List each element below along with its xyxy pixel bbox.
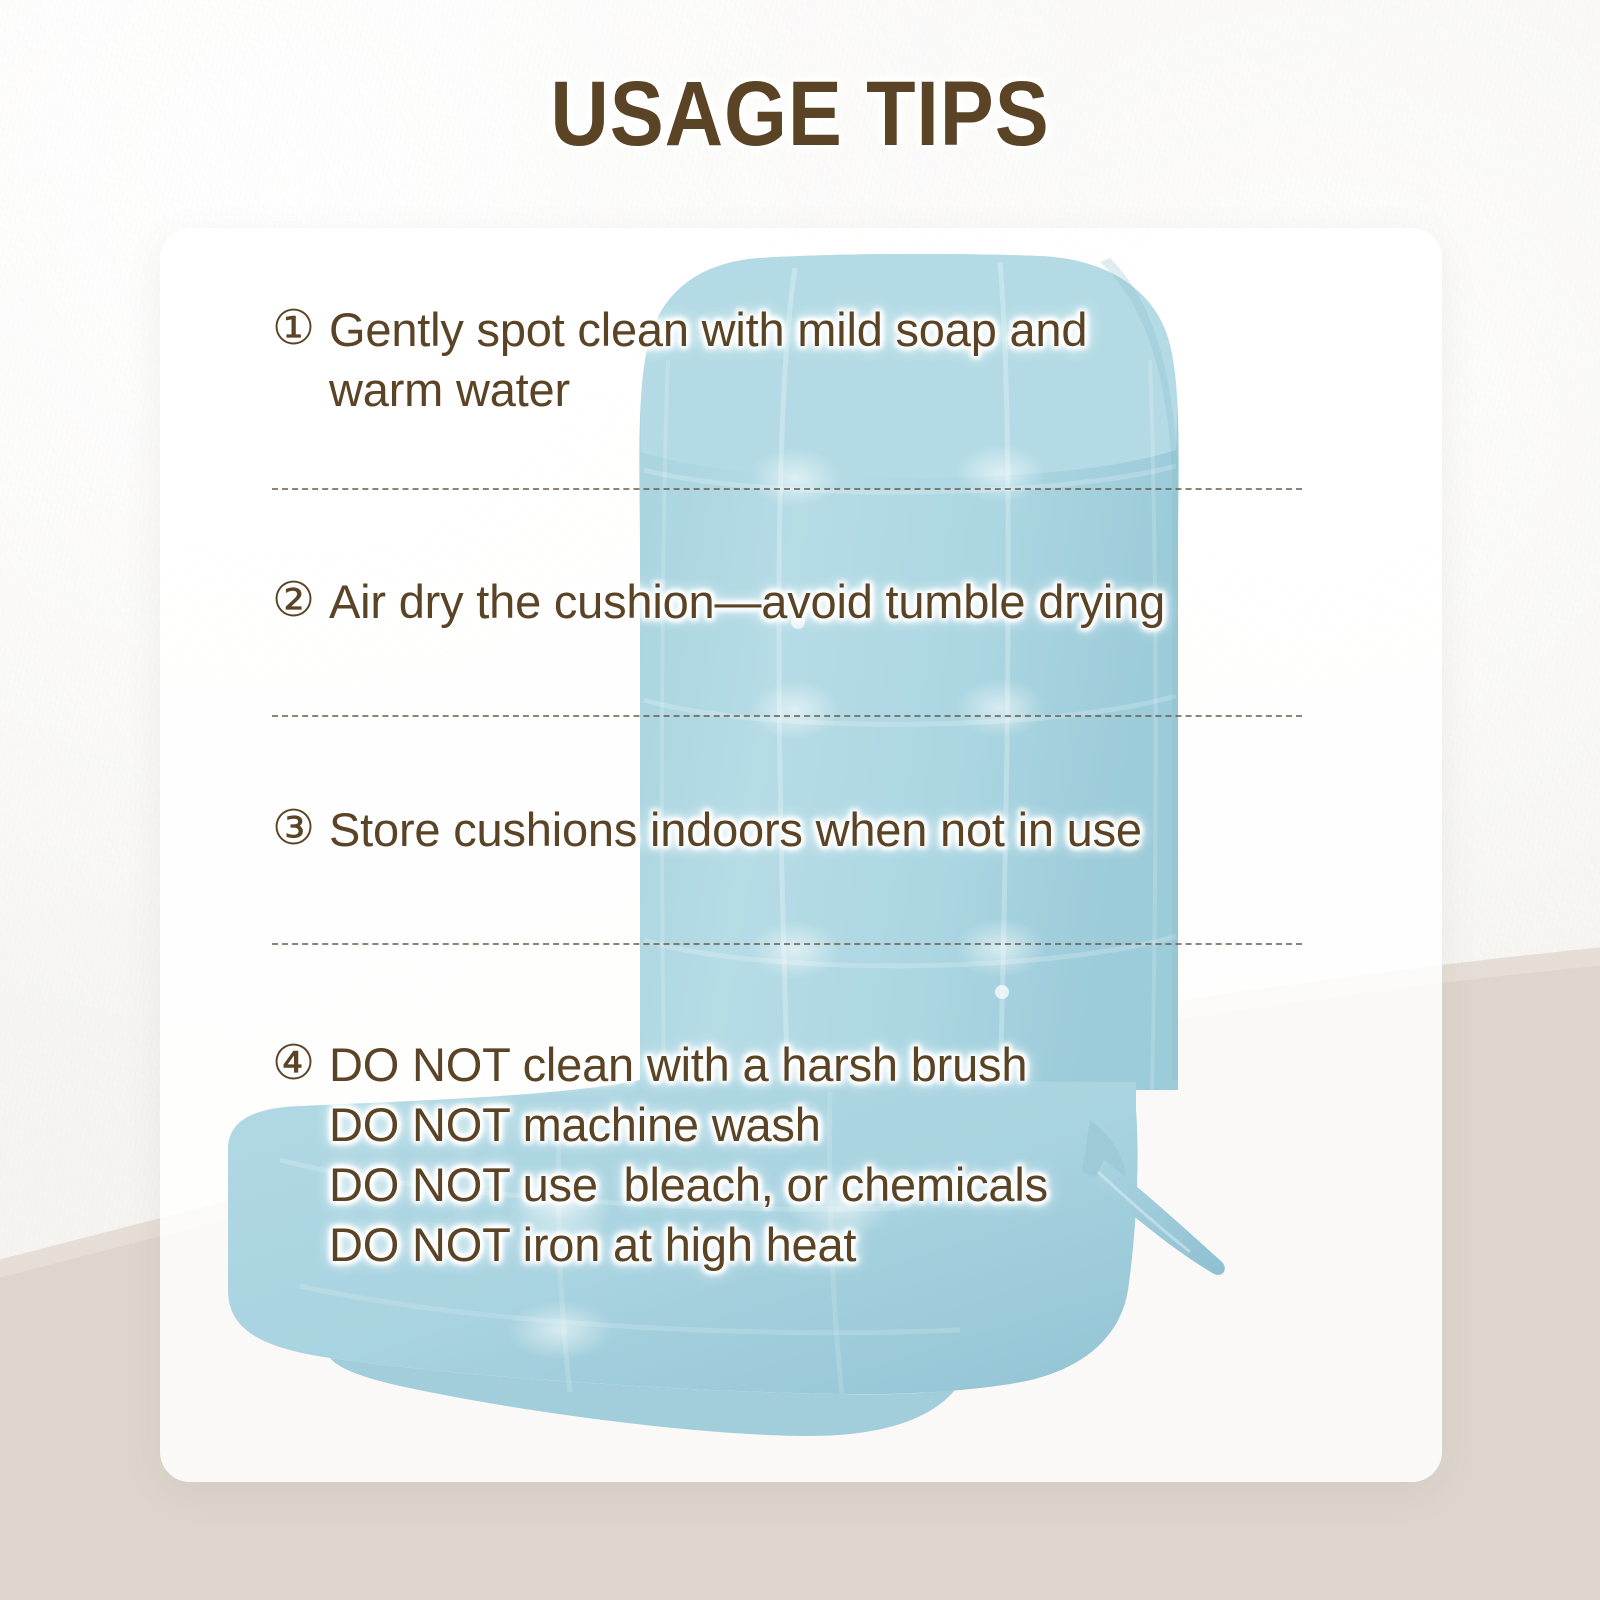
tip-line: Store cushions indoors when not in use xyxy=(329,800,1302,860)
tip-item-4: ④ DO NOT clean with a harsh brush DO NOT… xyxy=(272,1035,1302,1276)
divider-1 xyxy=(272,488,1302,490)
tip-item-3: ③ Store cushions indoors when not in use xyxy=(272,800,1302,860)
tip-line: DO NOT clean with a harsh brush xyxy=(329,1035,1302,1095)
tip-line: warm water xyxy=(329,360,1302,420)
tip-text-3: Store cushions indoors when not in use xyxy=(329,800,1302,860)
tip-number-1: ① xyxy=(272,300,315,359)
tip-line: DO NOT use bleach, or chemicals xyxy=(329,1155,1302,1215)
infographic-page: USAGE TIPS ① Gently spot clean with mild… xyxy=(0,0,1600,1600)
tip-line: Gently spot clean with mild soap and xyxy=(329,300,1302,360)
divider-3 xyxy=(272,943,1302,945)
page-title: USAGE TIPS xyxy=(96,62,1504,167)
tip-text-4: DO NOT clean with a harsh brush DO NOT m… xyxy=(329,1035,1302,1276)
tip-text-1: Gently spot clean with mild soap and war… xyxy=(329,300,1302,420)
tip-line: DO NOT machine wash xyxy=(329,1095,1302,1155)
divider-2 xyxy=(272,715,1302,717)
tip-item-1: ① Gently spot clean with mild soap and w… xyxy=(272,300,1302,420)
tip-number-2: ② xyxy=(272,572,315,631)
tip-item-2: ② Air dry the cushion—avoid tumble dryin… xyxy=(272,572,1302,632)
tip-number-3: ③ xyxy=(272,800,315,859)
tip-line: Air dry the cushion—avoid tumble drying xyxy=(329,572,1302,632)
tip-number-4: ④ xyxy=(272,1035,315,1094)
tip-text-2: Air dry the cushion—avoid tumble drying xyxy=(329,572,1302,632)
tip-line: DO NOT iron at high heat xyxy=(329,1215,1302,1275)
